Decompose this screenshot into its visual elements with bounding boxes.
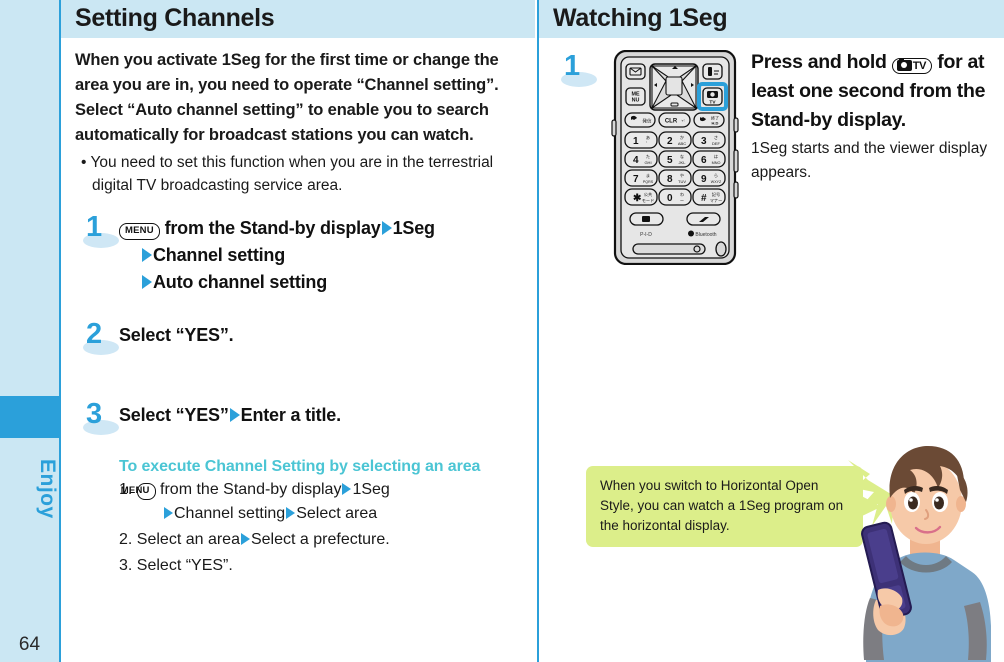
svg-text:4: 4 bbox=[633, 155, 639, 166]
right-step-1: 1 bbox=[553, 48, 994, 185]
svg-text:゛: ゛ bbox=[646, 141, 650, 146]
svg-text:モード: モード bbox=[642, 198, 655, 203]
step-1-number: 1 bbox=[86, 211, 102, 244]
tv-camera-key-icon: TV bbox=[892, 58, 932, 74]
subprocedure: To execute Channel Setting by selecting … bbox=[119, 458, 525, 578]
svg-text:MNO: MNO bbox=[712, 161, 721, 165]
arrow-marker-icon bbox=[142, 248, 152, 262]
svg-text:ー: ー bbox=[680, 198, 684, 203]
svg-text:7: 7 bbox=[633, 174, 639, 185]
arrow-marker-icon bbox=[230, 408, 240, 422]
step-3-number-badge: 3 bbox=[81, 402, 121, 442]
svg-text:記号: 記号 bbox=[712, 191, 720, 198]
subprocedure-item-2-text-a: Select an area bbox=[137, 531, 240, 548]
callout-bubble: When you switch to Horizontal Open Style… bbox=[586, 466, 863, 547]
svg-text:な: な bbox=[680, 153, 684, 159]
step-2-number: 2 bbox=[86, 318, 102, 351]
menu-key-icon: MENU bbox=[137, 483, 156, 500]
left-column-header: Setting Channels bbox=[61, 0, 535, 38]
arrow-marker-icon bbox=[164, 507, 173, 519]
intro-paragraph: When you activate 1Seg for the first tim… bbox=[75, 48, 525, 148]
svg-text:#: # bbox=[701, 193, 707, 204]
step-3-number: 3 bbox=[86, 398, 102, 431]
character-illustration bbox=[848, 440, 1004, 662]
step-1-line2: Channel setting bbox=[153, 245, 285, 265]
subprocedure-item-1-line2-b: Select area bbox=[296, 505, 377, 522]
subprocedure-item-1: 1. MENU from the Stand-by display1Seg Ch… bbox=[119, 478, 525, 526]
arrow-marker-icon bbox=[241, 533, 250, 545]
page-number: 64 bbox=[0, 634, 59, 656]
svg-text:わ: わ bbox=[680, 191, 684, 197]
tv-key-label: TV bbox=[913, 60, 926, 72]
subprocedure-item-1-text: from the Stand-by display bbox=[156, 481, 342, 498]
arrow-marker-icon bbox=[286, 507, 295, 519]
step-1-line2-wrap: Channel setting bbox=[119, 242, 525, 269]
right-step-result: 1Seg starts and the viewer display appea… bbox=[751, 137, 990, 185]
subprocedure-item-3-marker: 3. bbox=[119, 557, 132, 574]
step-3-text-a: Select “YES” bbox=[119, 405, 229, 425]
subprocedure-item-3: 3. Select “YES”. bbox=[119, 554, 525, 578]
svg-text:Bluetooth: Bluetooth bbox=[695, 232, 716, 238]
svg-text:ま: ま bbox=[646, 173, 650, 178]
svg-text:WXYZ: WXYZ bbox=[711, 180, 722, 184]
subprocedure-item-3-text: Select “YES”. bbox=[137, 557, 233, 574]
phone-keypad-illustration: ME NU TV 発信 CLR ☜ bbox=[611, 50, 739, 265]
svg-text:9: 9 bbox=[701, 174, 707, 185]
step-1-line1-text: from the Stand-by display bbox=[160, 218, 381, 238]
svg-text:3: 3 bbox=[701, 136, 707, 147]
svg-text:発信: 発信 bbox=[642, 118, 652, 125]
svg-text:P-I-D: P-I-D bbox=[640, 232, 652, 238]
step-2-body: Select “YES”. bbox=[119, 322, 525, 349]
step-2-number-badge: 2 bbox=[81, 322, 121, 362]
svg-text:6: 6 bbox=[701, 155, 707, 166]
side-index-tab: Enjoy 64 bbox=[0, 0, 59, 662]
svg-text:CLR: CLR bbox=[665, 119, 678, 125]
subprocedure-item-2-marker: 2. bbox=[119, 531, 132, 548]
camera-icon bbox=[897, 60, 912, 71]
subprocedure-item-1-line2-a: Channel setting bbox=[174, 505, 285, 522]
subprocedure-item-2: 2. Select an areaSelect a prefecture. bbox=[119, 528, 525, 552]
svg-text:NU: NU bbox=[632, 98, 640, 104]
left-column: Setting Channels When you activate 1Seg … bbox=[59, 0, 535, 662]
subprocedure-item-1-line2: Channel settingSelect area bbox=[141, 502, 525, 526]
svg-text:H.D: H.D bbox=[712, 121, 719, 126]
side-tab-marker bbox=[0, 396, 59, 438]
step-1-body: MENU from the Stand-by display1Seg Chann… bbox=[119, 215, 525, 296]
side-tab-label: Enjoy bbox=[0, 444, 59, 534]
step-3-text-b: Enter a title. bbox=[241, 405, 341, 425]
step-3-body: Select “YES”Enter a title. bbox=[119, 402, 525, 429]
step-1-line3: Auto channel setting bbox=[153, 272, 327, 292]
right-step-text: Press and hold TV for at least one secon… bbox=[751, 48, 994, 185]
right-step-1-number-badge: 1 bbox=[559, 54, 599, 94]
arrow-marker-icon bbox=[142, 275, 152, 289]
svg-text:さ: さ bbox=[714, 134, 718, 140]
right-step-1-number: 1 bbox=[564, 50, 580, 83]
intro-note: • You need to set this function when you… bbox=[81, 151, 525, 197]
svg-text:や: や bbox=[680, 172, 684, 179]
step-1: 1 MENU from the Stand-by display1Seg Cha… bbox=[75, 215, 525, 296]
svg-text:公共: 公共 bbox=[644, 191, 652, 198]
subprocedure-item-2-text-b: Select a prefecture. bbox=[251, 531, 390, 548]
step-2: 2 Select “YES”. bbox=[75, 322, 525, 356]
menu-key-icon: MENU bbox=[119, 223, 160, 240]
right-column-header: Watching 1Seg bbox=[539, 0, 1004, 38]
svg-text:TV: TV bbox=[709, 100, 716, 106]
subprocedure-title: To execute Channel Setting by selecting … bbox=[119, 458, 525, 476]
svg-text:PQRS: PQRS bbox=[643, 180, 654, 184]
arrow-marker-icon bbox=[342, 483, 351, 495]
svg-text:GHI: GHI bbox=[644, 160, 651, 165]
step-1-line1-tail: 1Seg bbox=[393, 218, 435, 238]
svg-text:☜: ☜ bbox=[681, 119, 686, 125]
step-1-line3-wrap: Auto channel setting bbox=[119, 269, 525, 296]
svg-text:✱: ✱ bbox=[633, 193, 642, 204]
svg-text:8: 8 bbox=[667, 174, 673, 185]
arrow-marker-icon bbox=[382, 221, 392, 235]
svg-text:5: 5 bbox=[667, 155, 673, 166]
step-1-number-badge: 1 bbox=[81, 215, 121, 255]
left-column-body: When you activate 1Seg for the first tim… bbox=[61, 48, 535, 578]
step-3: 3 Select “YES”Enter a title. bbox=[75, 402, 525, 436]
right-step-instruction: Press and hold TV for at least one secon… bbox=[751, 48, 990, 135]
svg-text:1: 1 bbox=[633, 136, 639, 147]
subprocedure-item-1-tail: 1Seg bbox=[352, 481, 389, 498]
svg-text:TUV: TUV bbox=[678, 179, 686, 184]
svg-text:DEF: DEF bbox=[712, 141, 721, 146]
svg-text:0: 0 bbox=[667, 193, 673, 204]
svg-text:ABC: ABC bbox=[678, 141, 686, 146]
right-step-instruction-before: Press and hold bbox=[751, 51, 892, 73]
svg-text:JKL: JKL bbox=[679, 160, 687, 165]
svg-text:2: 2 bbox=[667, 136, 673, 147]
right-column-body: 1 bbox=[539, 48, 1004, 185]
